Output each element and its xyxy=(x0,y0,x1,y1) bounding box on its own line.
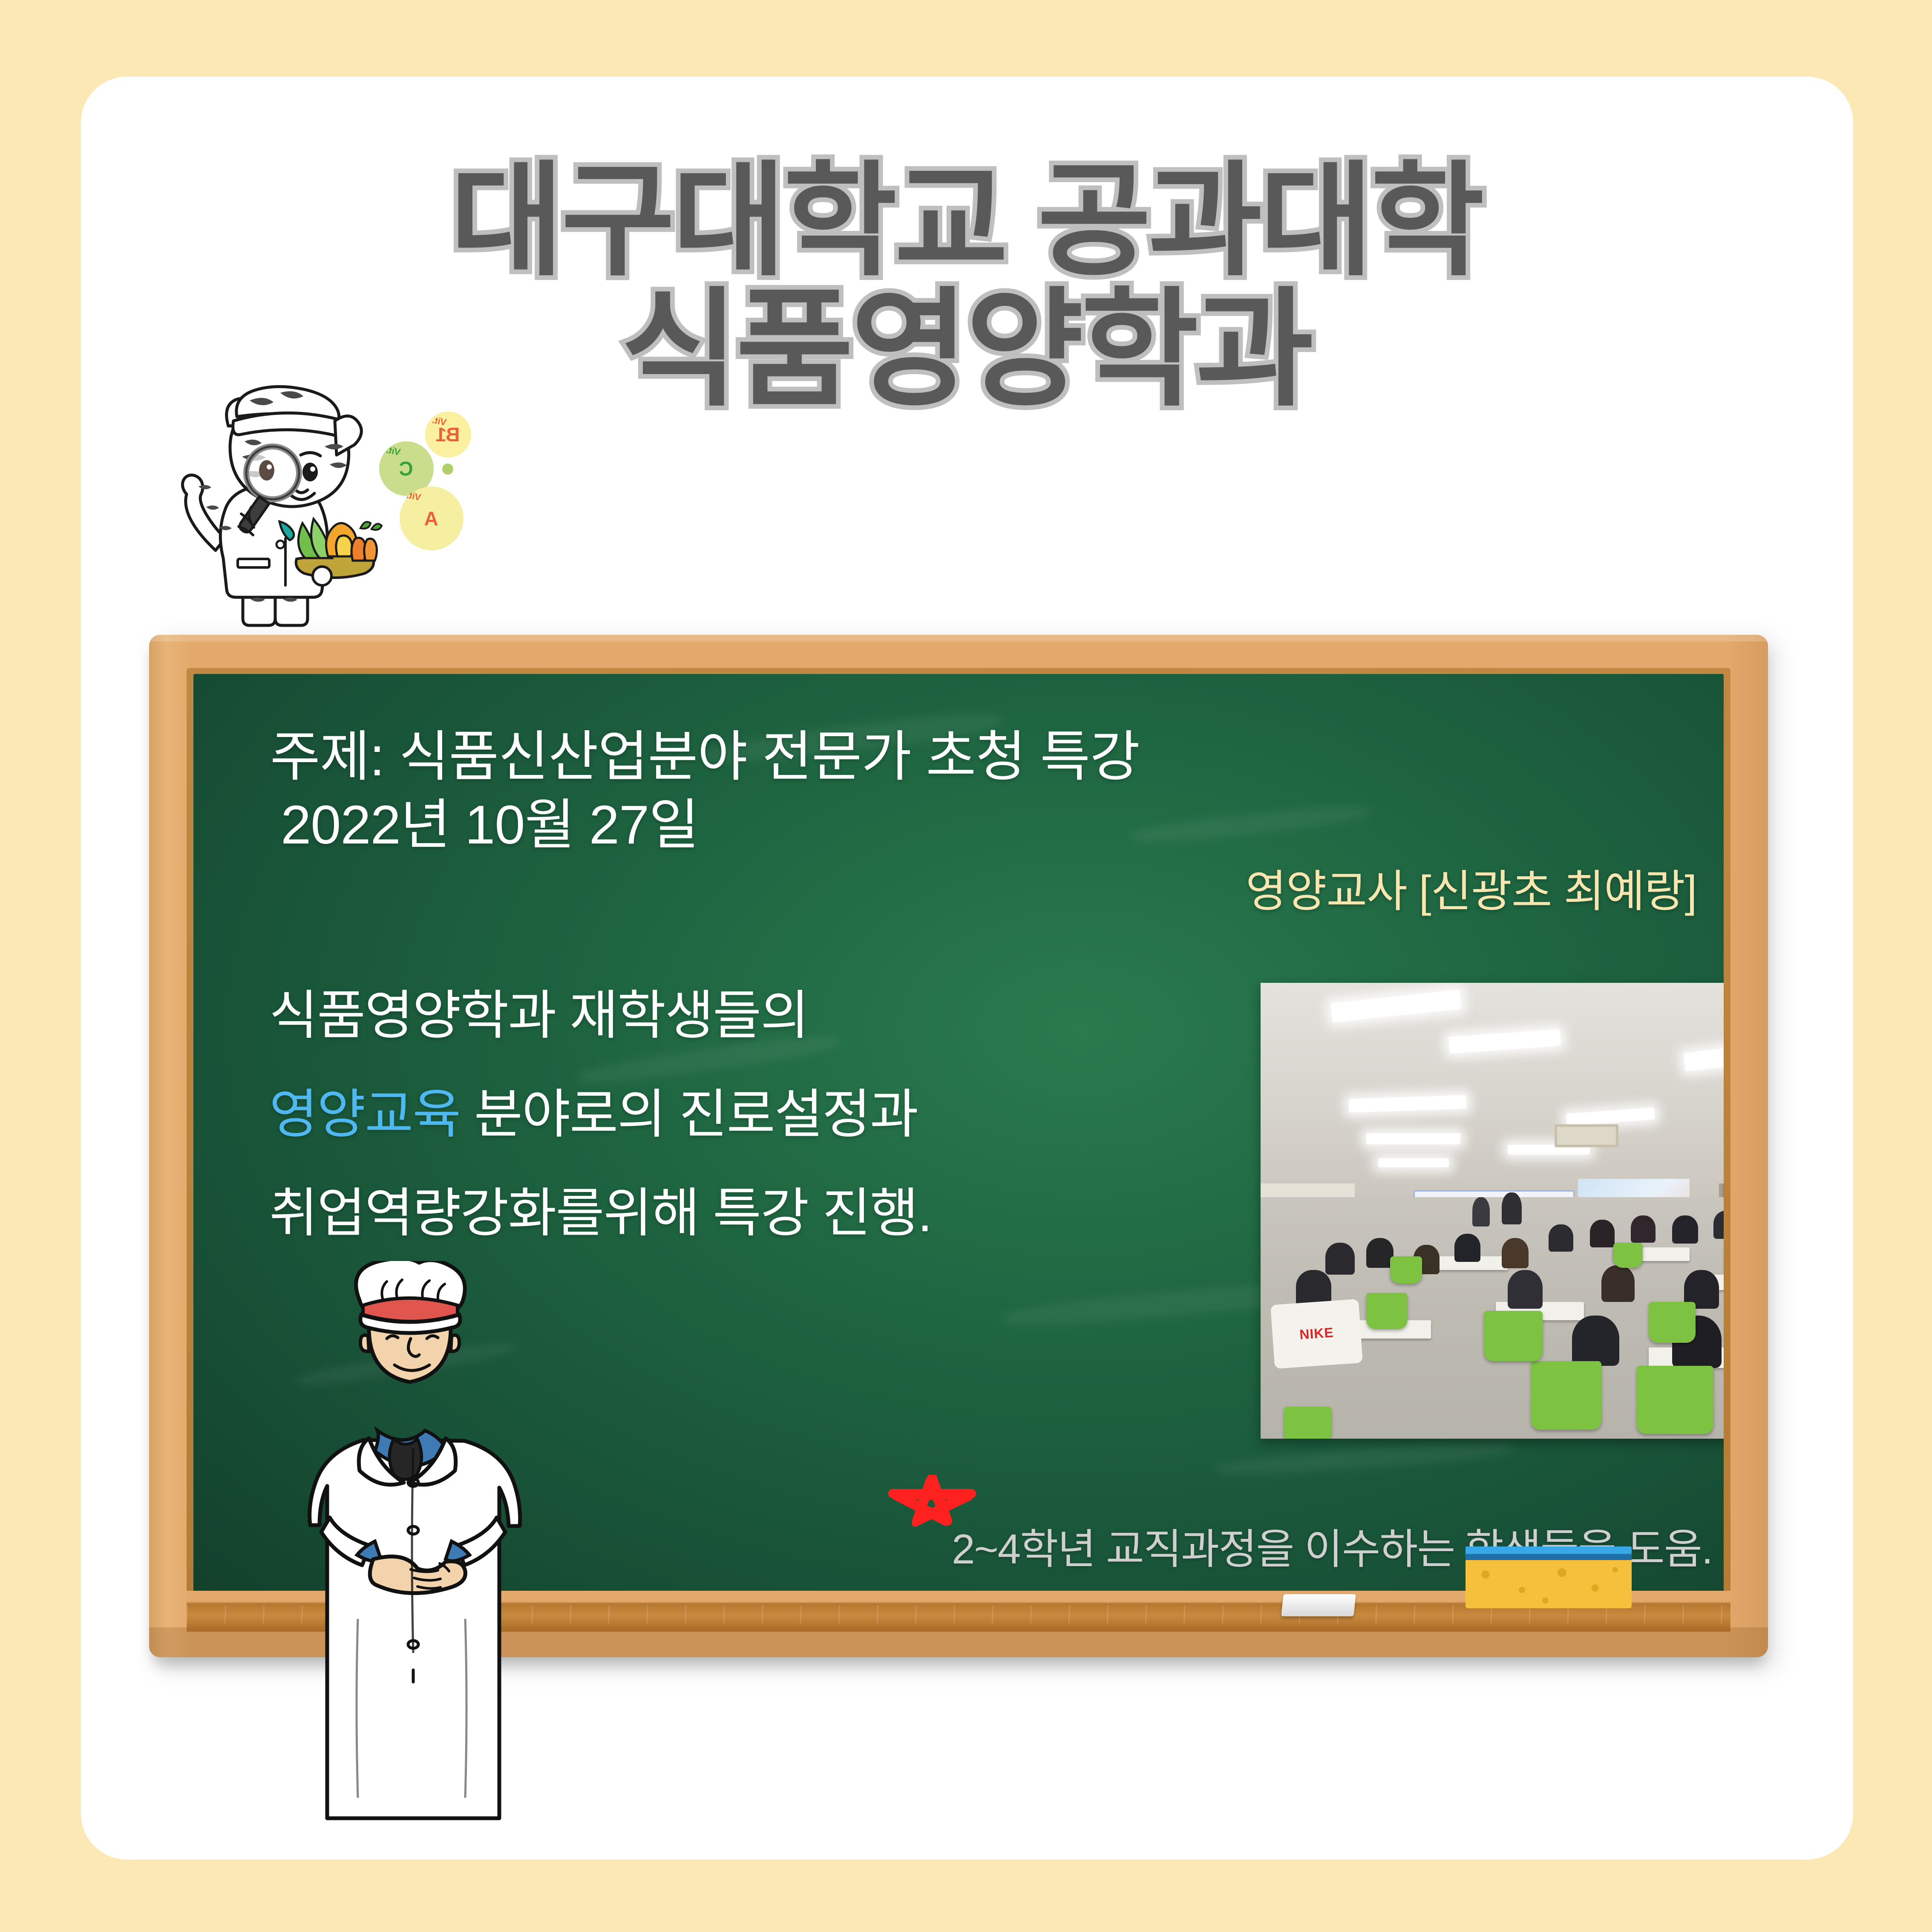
photo-ceiling xyxy=(1261,983,1724,1197)
photo-nike-jacket: NIKE xyxy=(1270,1299,1363,1369)
photo-student xyxy=(1631,1215,1656,1243)
photo-student xyxy=(1572,1316,1619,1366)
board-body-line-2: 영양교육 분야로의 진로설정과 xyxy=(269,1071,931,1148)
photo-chair xyxy=(1284,1407,1331,1439)
photo-aircon-vent xyxy=(1555,1124,1618,1148)
vitamin-bubble-b1: Vit. B1 xyxy=(425,412,471,458)
poster-canvas: 대구대학교 공과대학 식품영양학과 xyxy=(0,0,1932,1932)
photo-student xyxy=(1549,1224,1573,1252)
photo-student xyxy=(1366,1238,1393,1268)
vitamin-bubble-dot xyxy=(442,464,453,475)
photo-student xyxy=(1601,1265,1634,1302)
board-body-text: 식품영양학과 재학생들의 영양교육 분야로의 진로설정과 취업역량강화를위해 특… xyxy=(269,972,931,1269)
photo-student xyxy=(1454,1234,1480,1262)
photo-chair xyxy=(1390,1256,1422,1284)
vitamin-prefix-a: Vit. xyxy=(406,489,422,503)
photo-student xyxy=(1508,1270,1543,1309)
photo-chair xyxy=(1649,1302,1696,1343)
board-teacher-credit: 영양교사 [신광초 최예랑] xyxy=(1246,855,1696,919)
vitamin-bubbles-group: Vit. B1 Vit. C Vit. A xyxy=(375,409,503,550)
sponge-body xyxy=(1466,1560,1632,1608)
chalk-stick-icon xyxy=(1281,1594,1356,1616)
board-subject-line: 주제: 식품신산업분야 전문가 초청 특강 xyxy=(270,712,1140,791)
photo-chair xyxy=(1366,1293,1408,1330)
photo-presenter xyxy=(1502,1192,1522,1224)
vitamin-bubble-a: Vit. A xyxy=(400,487,464,550)
photo-chair xyxy=(1531,1361,1602,1430)
photo-ceiling-light xyxy=(1366,1133,1460,1144)
photo-student xyxy=(1502,1238,1529,1268)
photo-student xyxy=(1325,1243,1355,1275)
photo-ceiling-light xyxy=(1378,1158,1449,1167)
photo-chair xyxy=(1637,1366,1713,1434)
board-sponge-icon xyxy=(1466,1546,1632,1608)
vitamin-prefix-c: Vit. xyxy=(385,444,401,458)
photo-chair xyxy=(1484,1311,1543,1361)
board-body-line-3: 취업역량강화를위해 특강 진행. xyxy=(269,1170,931,1247)
photo-presenter-assistant xyxy=(1472,1197,1490,1227)
board-date-line: 2022년 10월 27일 xyxy=(281,780,699,859)
photo-student xyxy=(1672,1215,1698,1244)
vitamin-label-c: C xyxy=(400,457,413,480)
lecture-photo: NIKE xyxy=(1261,983,1724,1439)
board-body-line-2-rest: 분야로의 진로설정과 xyxy=(460,1085,918,1144)
nutrition-teacher-character xyxy=(273,1261,554,1849)
vitamin-label-a: A xyxy=(425,507,438,530)
photo-student xyxy=(1590,1220,1615,1247)
sponge-top xyxy=(1466,1546,1632,1560)
board-body-highlight: 영양교육 xyxy=(269,1085,460,1144)
vitamin-prefix-b1: Vit. xyxy=(431,415,447,428)
board-body-line-1: 식품영양학과 재학생들의 xyxy=(269,972,931,1049)
photo-chair xyxy=(1613,1243,1643,1268)
